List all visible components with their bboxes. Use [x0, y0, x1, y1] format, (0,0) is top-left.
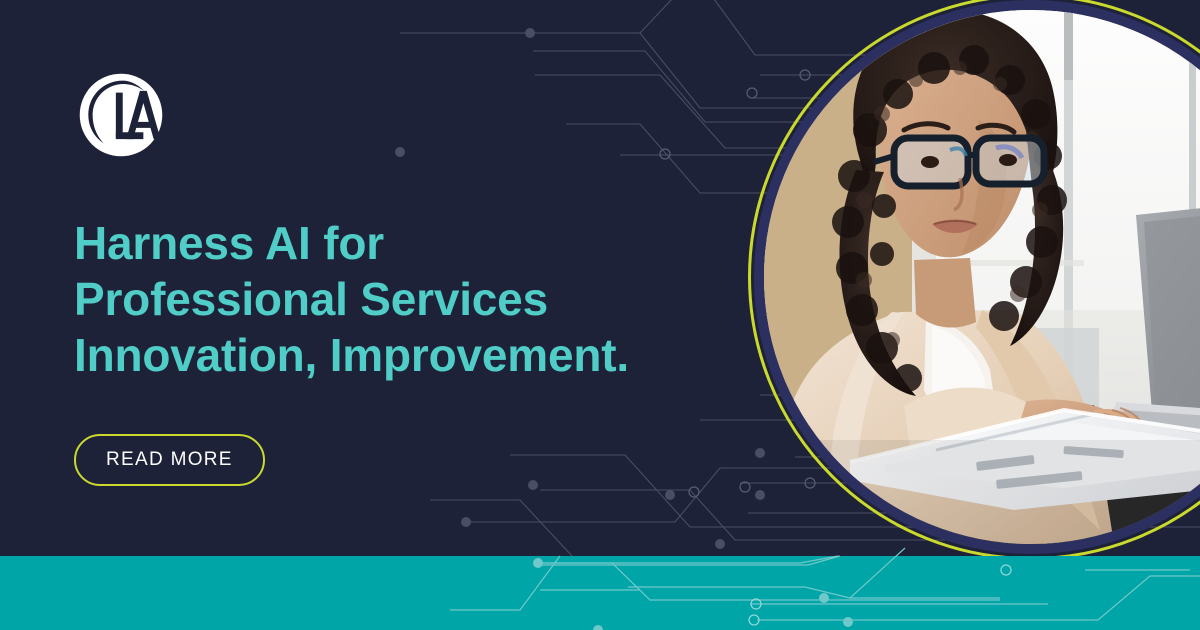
promo-banner: Harness AI for Professional Services Inn…: [0, 0, 1200, 630]
headline-line-1: Harness AI for: [74, 215, 714, 271]
photo-clip: [764, 10, 1200, 544]
woman-working-on-laptop-image: [764, 10, 1200, 544]
hero-photo-circle: [748, 0, 1200, 560]
cla-logo[interactable]: [78, 72, 164, 158]
headline-line-2: Professional Services: [74, 271, 714, 327]
page-title: Harness AI for Professional Services Inn…: [74, 215, 714, 383]
headline-line-3: Innovation, Improvement.: [74, 327, 714, 383]
teal-footer-bar: [0, 556, 1200, 630]
read-more-button[interactable]: READ MORE: [74, 434, 265, 486]
